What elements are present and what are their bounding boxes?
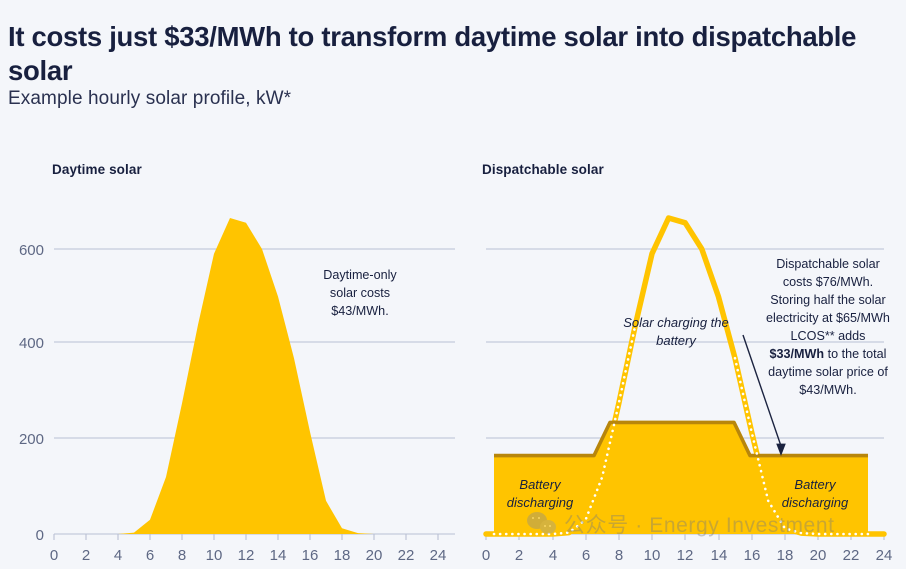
annotation-text-bold: $33/MWh xyxy=(770,347,825,361)
xlabel-16: 16 xyxy=(744,547,761,564)
xlabel-4: 4 xyxy=(114,547,122,564)
ylabel-200: 200 xyxy=(19,431,44,448)
xlabel-24: 24 xyxy=(430,547,447,564)
annotation-daytime-cost: Daytime-only solar costs $43/MWh. xyxy=(310,266,410,320)
infographic-page: It costs just $33/MWh to transform dayti… xyxy=(0,0,906,569)
xlabel-14: 14 xyxy=(270,547,287,564)
xlabel-10: 10 xyxy=(206,547,223,564)
chart-daytime-solar: 600 400 200 0 0 2 4 6 8 10 12 14 16 18 2… xyxy=(0,150,455,569)
ylabel-0: 0 xyxy=(36,527,44,544)
xlabel-0: 0 xyxy=(482,547,490,564)
xlabel-24: 24 xyxy=(876,547,893,564)
xlabel-22: 22 xyxy=(398,547,415,564)
page-title: It costs just $33/MWh to transform dayti… xyxy=(8,20,878,87)
xlabel-0: 0 xyxy=(50,547,58,564)
xlabel-2: 2 xyxy=(515,547,523,564)
xlabel-6: 6 xyxy=(146,547,154,564)
xlabel-4: 4 xyxy=(549,547,557,564)
xlabel-20: 20 xyxy=(366,547,383,564)
xlabel-8: 8 xyxy=(615,547,623,564)
annotation-dispatchable-cost: Dispatchable solar costs $76/MWh. Storin… xyxy=(766,255,890,399)
xlabel-22: 22 xyxy=(843,547,860,564)
xlabel-14: 14 xyxy=(711,547,728,564)
xlabel-6: 6 xyxy=(582,547,590,564)
xlabel-8: 8 xyxy=(178,547,186,564)
xlabel-10: 10 xyxy=(644,547,661,564)
ylabel-400: 400 xyxy=(19,335,44,352)
ylabel-600: 600 xyxy=(19,242,44,259)
xlabel-20: 20 xyxy=(810,547,827,564)
label-solar-charging: Solar charging the battery xyxy=(622,314,730,350)
xlabel-16: 16 xyxy=(302,547,319,564)
xlabel-12: 12 xyxy=(238,547,255,564)
panel-daytime-solar: Daytime solar 600 400 xyxy=(0,150,455,569)
annotation-text-pre: Dispatchable solar costs $76/MWh. Storin… xyxy=(766,257,890,343)
xlabel-12: 12 xyxy=(677,547,694,564)
label-battery-discharging-left: Battery discharging xyxy=(485,476,595,512)
xlabel-18: 18 xyxy=(334,547,351,564)
page-subtitle: Example hourly solar profile, kW* xyxy=(8,88,291,110)
xlabel-2: 2 xyxy=(82,547,90,564)
label-battery-discharging-right: Battery discharging xyxy=(760,476,870,512)
xlabel-18: 18 xyxy=(777,547,794,564)
